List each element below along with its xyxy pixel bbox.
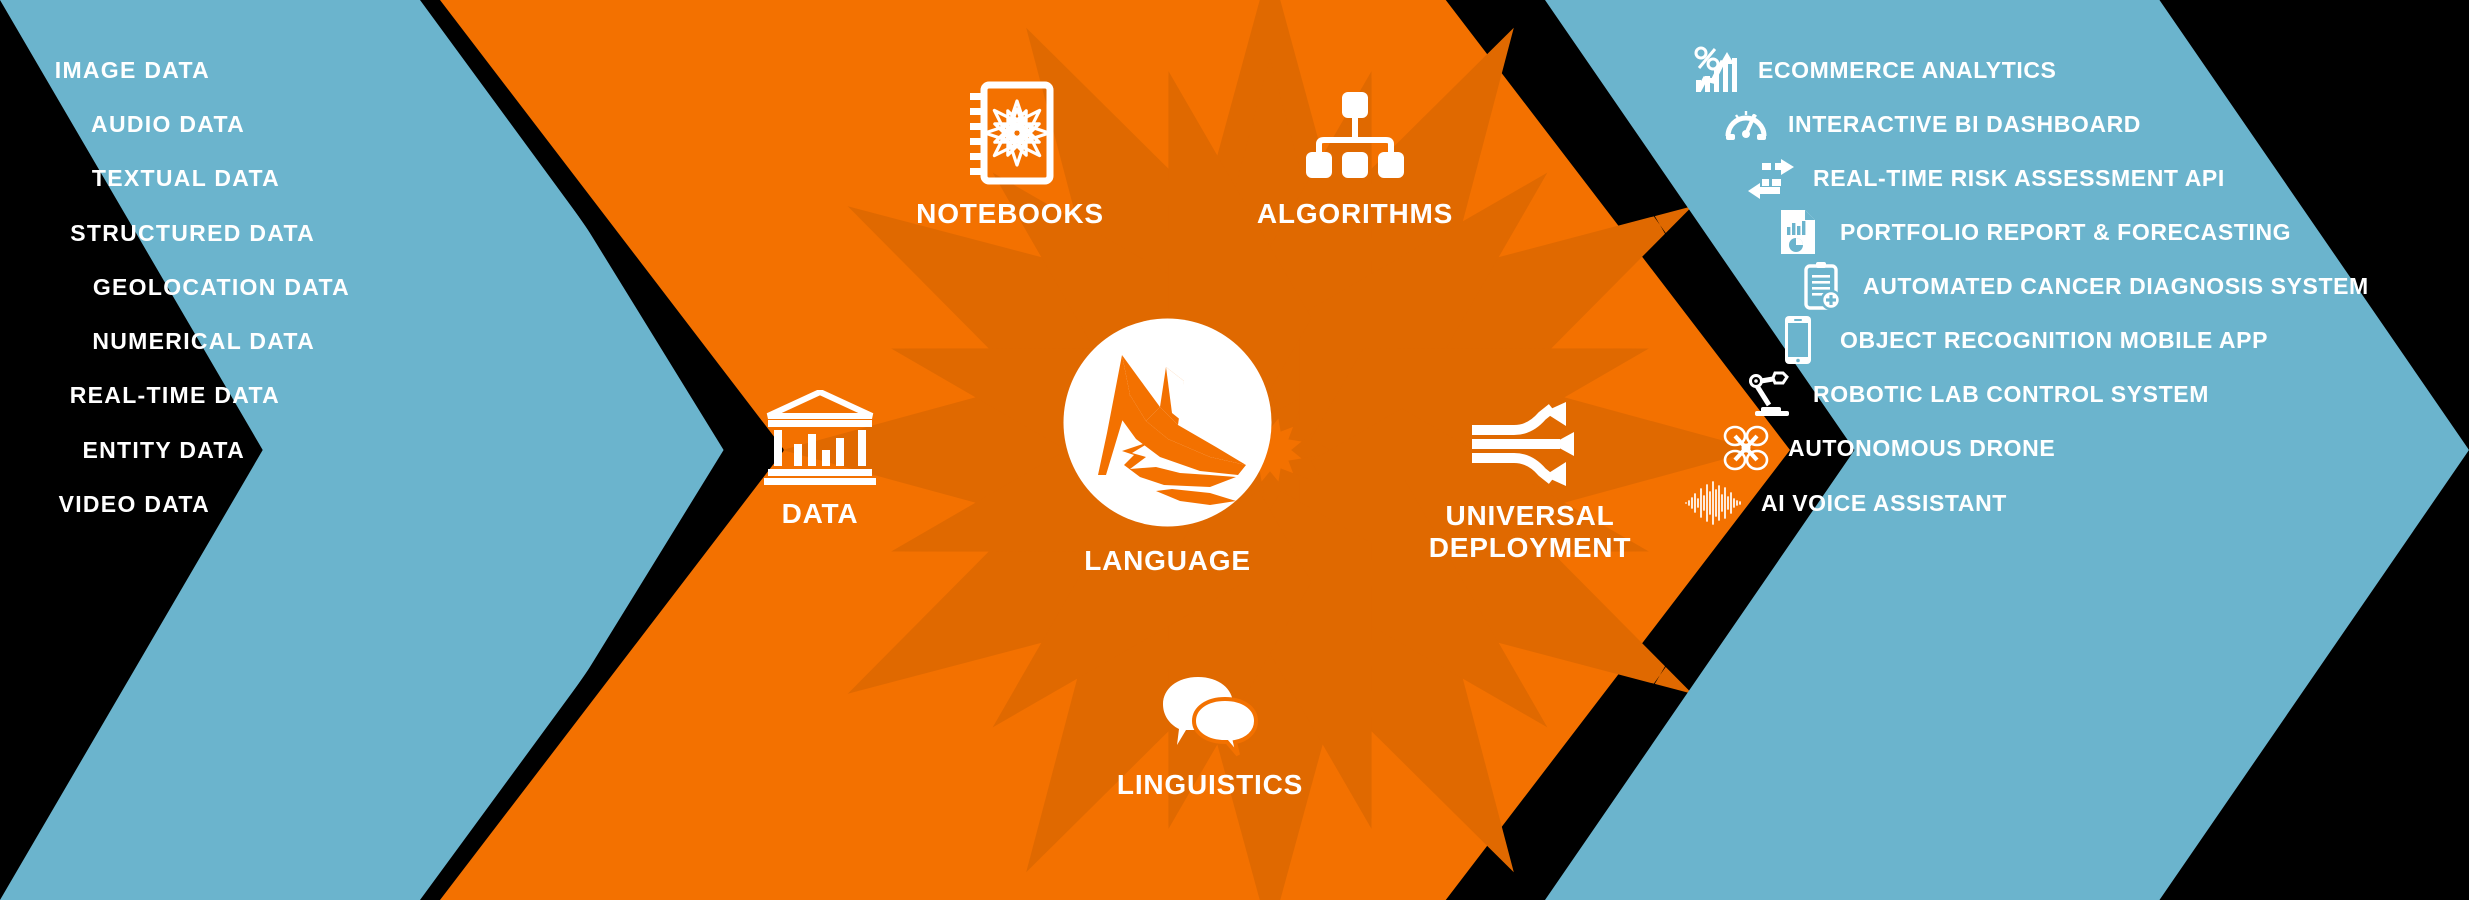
right-item-real-time-risk-assessment-api[interactable]: REAL-TIME RISK ASSESSMENT API [1745,152,2225,204]
center-node-label: ALGORITHMS [1257,198,1453,230]
right-item-label: OBJECT RECOGNITION MOBILE APP [1840,327,2268,354]
speedometer-gauge-icon [1720,98,1772,150]
center-node-label: LINGUISTICS [1117,769,1303,801]
right-item-label: REAL-TIME RISK ASSESSMENT API [1813,165,2225,192]
left-item-5: NUMERICAL DATA [92,328,315,355]
left-item-7: ENTITY DATA [82,437,245,464]
left-item-1: AUDIO DATA [91,111,245,138]
right-item-label: PORTFOLIO REPORT & FORECASTING [1840,219,2291,246]
left-item-4: GEOLOCATION DATA [93,274,350,301]
right-item-label: ROBOTIC LAB CONTROL SYSTEM [1813,381,2209,408]
diverging-arrows-icon [1468,400,1592,488]
center-node-notebooks[interactable]: NOTEBOOKS [880,80,1140,230]
percent-growth-chart-icon [1690,44,1742,96]
input-data-list: IMAGE DATA AUDIO DATA TEXTUAL DATA STRUC… [0,0,700,900]
right-item-robotic-lab-control-system[interactable]: ROBOTIC LAB CONTROL SYSTEM [1745,368,2209,420]
center-node-label: NOTEBOOKS [916,198,1104,230]
diagram-canvas: IMAGE DATA AUDIO DATA TEXTUAL DATA STRUC… [0,0,2469,900]
left-item-0: IMAGE DATA [55,57,210,84]
center-node-language[interactable]: LANGUAGE [1060,315,1275,577]
smartphone-icon [1772,314,1824,366]
left-item-2: TEXTUAL DATA [92,165,280,192]
right-item-ai-voice-assistant[interactable]: AI VOICE ASSISTANT [1685,477,2007,529]
center-node-linguistics[interactable]: LINGUISTICS [1080,675,1340,801]
right-item-label: ECOMMERCE ANALYTICS [1758,57,2057,84]
left-item-8: VIDEO DATA [59,491,210,518]
wolfram-fox-logo-icon [1060,315,1275,535]
notebook-spikey-icon [964,80,1056,186]
right-item-ecommerce-analytics[interactable]: ECOMMERCE ANALYTICS [1690,44,2057,96]
quadcopter-drone-icon [1720,422,1772,474]
right-item-portfolio-report-forecasting[interactable]: PORTFOLIO REPORT & FORECASTING [1772,206,2291,258]
clipboard-medical-icon [1795,260,1847,312]
document-chart-icon [1772,206,1824,258]
center-node-label: LANGUAGE [1084,545,1251,577]
right-item-label: AUTOMATED CANCER DIAGNOSIS SYSTEM [1863,273,2369,300]
center-node-universal-deployment[interactable]: UNIVERSAL DEPLOYMENT [1385,400,1675,565]
bidirectional-arrows-icon [1745,152,1797,204]
audio-waveform-icon [1685,477,1745,529]
left-item-6: REAL-TIME DATA [70,382,280,409]
left-item-3: STRUCTURED DATA [70,220,315,247]
right-item-object-recognition-mobile-app[interactable]: OBJECT RECOGNITION MOBILE APP [1772,314,2268,366]
right-item-automated-cancer-diagnosis-system[interactable]: AUTOMATED CANCER DIAGNOSIS SYSTEM [1795,260,2369,312]
center-node-label: UNIVERSAL DEPLOYMENT [1429,500,1631,565]
right-item-label: INTERACTIVE BI DASHBOARD [1788,111,2141,138]
right-item-autonomous-drone[interactable]: AUTONOMOUS DRONE [1720,422,2055,474]
center-node-label: DATA [782,498,859,530]
speech-bubbles-icon [1159,675,1261,757]
hierarchy-tree-icon [1301,90,1409,186]
bank-barchart-icon [762,390,878,486]
center-node-algorithms[interactable]: ALGORITHMS [1225,90,1485,230]
right-item-label: AI VOICE ASSISTANT [1761,490,2007,517]
output-applications-list: ECOMMERCE ANALYTICS INTERACTIVE BI DASHB… [1690,0,2469,900]
right-item-label: AUTONOMOUS DRONE [1788,435,2055,462]
center-node-data[interactable]: DATA [700,390,940,530]
right-item-interactive-bi-dashboard[interactable]: INTERACTIVE BI DASHBOARD [1720,98,2141,150]
robot-arm-icon [1745,368,1797,420]
